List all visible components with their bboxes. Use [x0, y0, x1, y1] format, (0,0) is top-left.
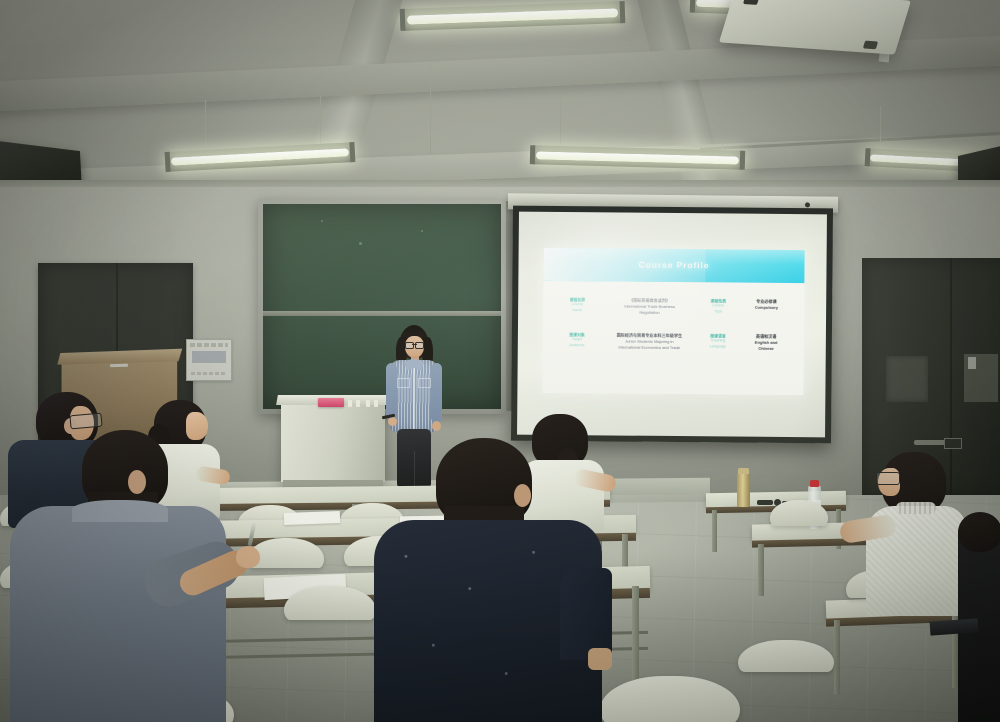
ear — [514, 484, 531, 507]
light-wire — [722, 102, 723, 150]
light-wire — [320, 96, 321, 148]
slide-title: Course Profile — [639, 260, 710, 271]
slide-label-cell: 课程名称 Course Name — [553, 297, 601, 314]
presenter-hand-right — [432, 421, 441, 431]
light-wire — [205, 100, 206, 148]
presenter-arm-right — [431, 363, 442, 423]
gold-thermos — [737, 473, 750, 507]
teaching-language-label-en-2: Language — [697, 344, 738, 350]
shoulder — [560, 568, 612, 660]
glasses-icon — [69, 413, 102, 430]
man-in-navy-patterned-shirt — [374, 438, 606, 722]
course-type-value-en: Compulsory — [739, 304, 794, 310]
chalk-piece — [356, 400, 360, 407]
course-type-label-en-2: Type — [698, 309, 739, 315]
hand — [236, 546, 260, 568]
slide-body: 课程名称 Course Name 《国际贸易商务谈判》 Internationa… — [542, 281, 805, 395]
presentation-slide: Course Profile 课程名称 Course Name 《国际贸易商务谈… — [542, 248, 805, 395]
pink-chalk-box — [318, 398, 344, 407]
slide-value-cell-2: 英语和汉语 English and Chinese — [738, 333, 794, 352]
target-audience-value-en-2: International Economics and Trade — [601, 344, 697, 351]
woman-in-white-lace-top — [862, 452, 970, 692]
white-lectern — [281, 402, 385, 482]
ear — [128, 470, 146, 494]
torso — [10, 506, 226, 722]
screen-status-led — [805, 202, 810, 207]
glasses-icon — [876, 472, 900, 485]
glasses-icon — [405, 342, 424, 348]
target-audience-label-en-2: Audience — [553, 343, 601, 349]
slide-label-cell-2: 课程性质 Course Type — [698, 298, 739, 315]
teaching-language-value-en-2: Chinese — [738, 345, 793, 351]
light-wire — [430, 64, 431, 154]
slide-label-cell: 授课对象 Target Audience — [553, 332, 601, 349]
chalk-piece — [348, 400, 352, 407]
course-name-label-en-2: Name — [553, 308, 601, 314]
slide-label-cell-2: 授课语言 Teaching Language — [697, 333, 738, 350]
slide-value-cell: 国际经济与贸易专业本科三年级学生 Junior Students Majorin… — [601, 332, 697, 351]
course-name-value-en-2: Negotiation — [601, 309, 697, 316]
hand — [588, 648, 612, 670]
chalk-piece — [366, 400, 370, 407]
projection-screen: Course Profile 课程名称 Course Name 《国际贸易商务谈… — [517, 212, 827, 438]
beaded-collar — [896, 502, 936, 514]
slide-value-cell: 《国际贸易商务谈判》 International Trade Business … — [601, 297, 697, 316]
chalk-piece — [374, 400, 378, 407]
slide-row: 课程名称 Course Name 《国际贸易商务谈判》 Internationa… — [553, 297, 794, 317]
presenter-hand-left — [388, 417, 397, 426]
slide-title-band: Course Profile — [543, 248, 805, 284]
light-wire — [560, 98, 561, 148]
classroom-presentation-photo: Course Profile 课程名称 Course Name 《国际贸易商务谈… — [0, 0, 1000, 722]
head — [958, 512, 1000, 552]
projection-screen-frame: Course Profile 课程名称 Course Name 《国际贸易商务谈… — [511, 206, 833, 444]
presenter-arm-left — [386, 363, 397, 421]
lectern-items — [318, 396, 382, 408]
paper-sheet — [284, 511, 340, 525]
polo-collar — [72, 500, 168, 522]
man-in-grey-polo-writing — [10, 430, 230, 722]
slide-row: 授课对象 Target Audience 国际经济与贸易专业本科三年级学生 Ju… — [553, 332, 794, 352]
slide-value-cell-2: 专业必修课 Compulsory — [739, 298, 794, 311]
light-wire — [880, 106, 881, 154]
student-chair — [770, 500, 828, 526]
